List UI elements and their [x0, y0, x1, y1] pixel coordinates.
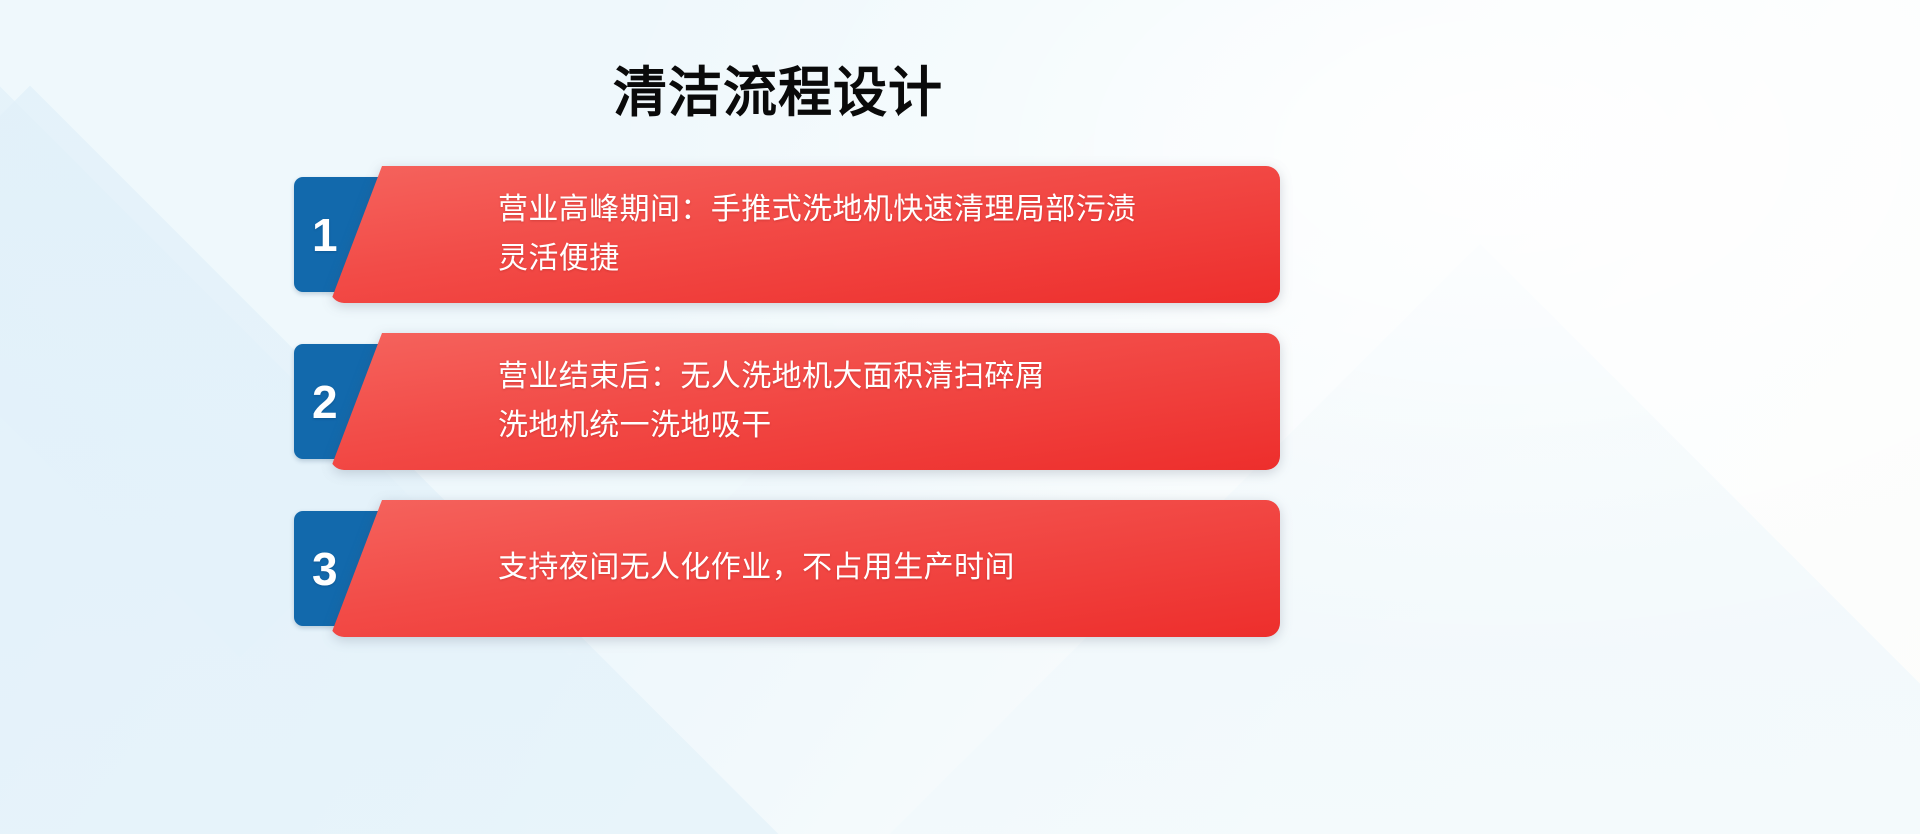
process-step-list: 1 营业高峰期间：手推式洗地机快速清理局部污渍 灵活便捷 2	[0, 166, 1570, 667]
step-text-line: 灵活便捷	[498, 235, 1250, 284]
process-step-row[interactable]: 2 营业结束后：无人洗地机大面积清扫碎屑 洗地机统一洗地吸干	[0, 333, 1570, 470]
step-text-line: 营业结束后：无人洗地机大面积清扫碎屑	[498, 353, 1250, 402]
step-card-text-1: 营业高峰期间：手推式洗地机快速清理局部污渍 灵活便捷	[498, 166, 1250, 303]
process-step-row[interactable]: 3 支持夜间无人化作业，不占用生产时间	[0, 500, 1570, 637]
step-text-line: 洗地机统一洗地吸干	[498, 402, 1250, 451]
step-text-line: 营业高峰期间：手推式洗地机快速清理局部污渍	[498, 186, 1250, 235]
step-card-text-2: 营业结束后：无人洗地机大面积清扫碎屑 洗地机统一洗地吸干	[498, 333, 1250, 470]
step-card-3[interactable]: 支持夜间无人化作业，不占用生产时间	[330, 500, 1280, 637]
step-card-2[interactable]: 营业结束后：无人洗地机大面积清扫碎屑 洗地机统一洗地吸干	[330, 333, 1280, 470]
page-title: 清洁流程设计	[0, 62, 1570, 124]
slide-canvas: 清洁流程设计 1 营业高峰期间：手推式洗地机快速清理局部污渍 灵活便捷	[0, 0, 1920, 834]
slide-content: 清洁流程设计 1 营业高峰期间：手推式洗地机快速清理局部污渍 灵活便捷	[0, 0, 1570, 834]
step-card-1[interactable]: 营业高峰期间：手推式洗地机快速清理局部污渍 灵活便捷	[330, 166, 1280, 303]
step-text-line: 支持夜间无人化作业，不占用生产时间	[498, 544, 1250, 593]
process-step-row[interactable]: 1 营业高峰期间：手推式洗地机快速清理局部污渍 灵活便捷	[0, 166, 1570, 303]
step-card-text-3: 支持夜间无人化作业，不占用生产时间	[498, 500, 1250, 637]
